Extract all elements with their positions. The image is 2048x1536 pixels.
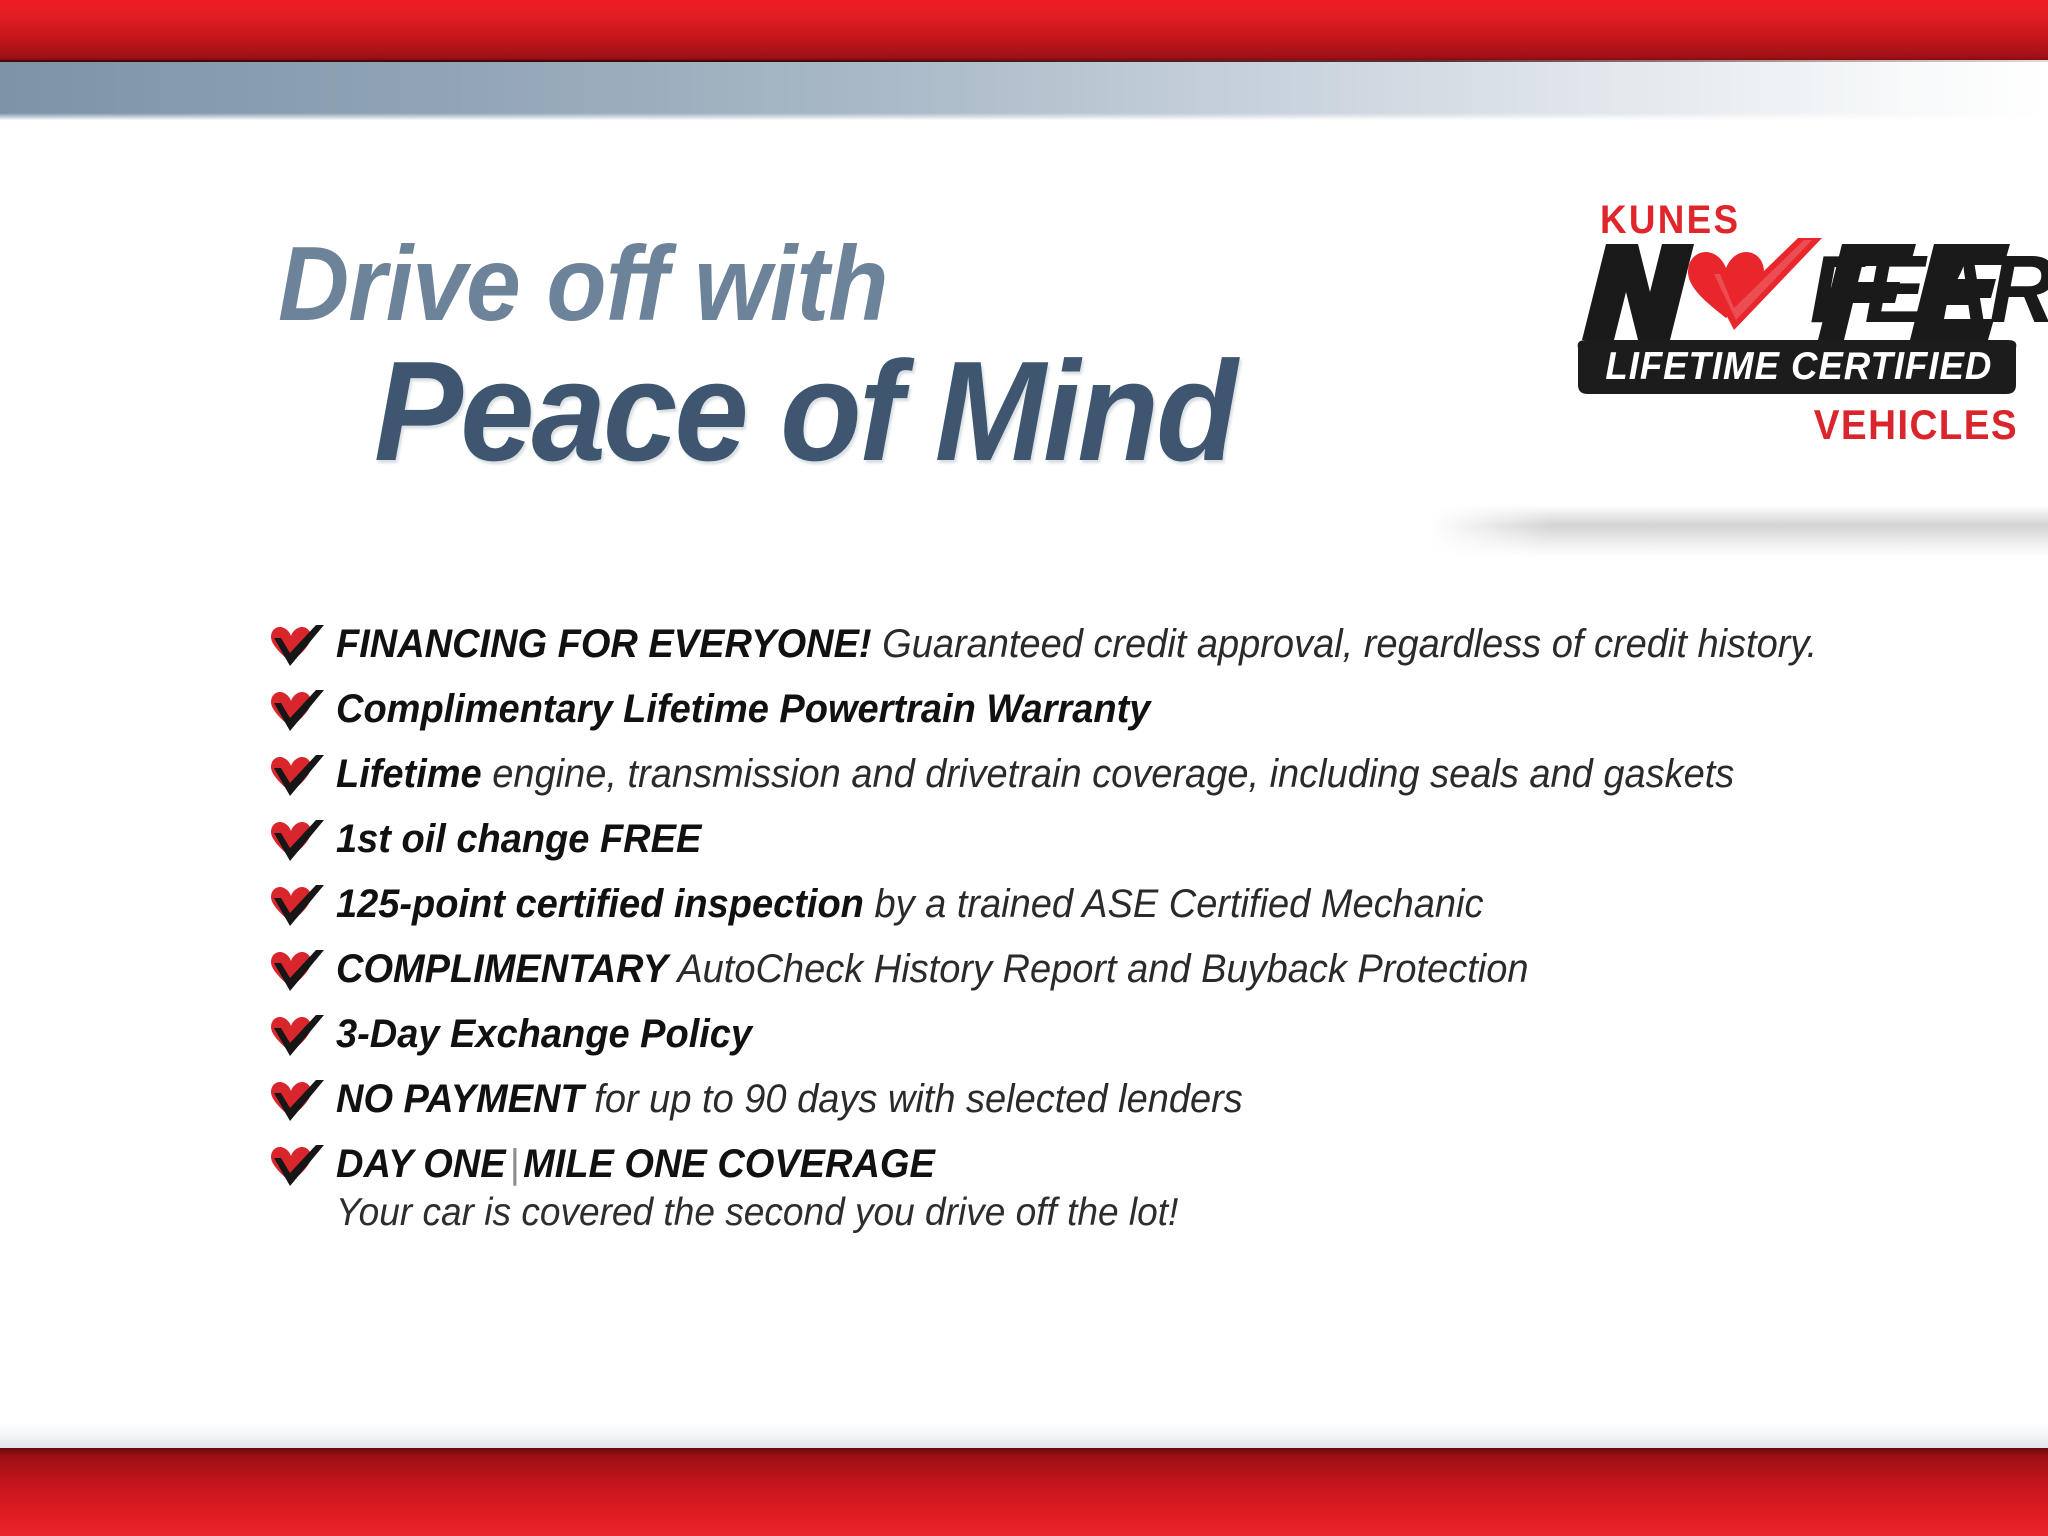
logo-certified-banner: LIFETIME CERTIFIED <box>1570 338 2022 396</box>
list-item: 3-Day Exchange Policy <box>268 1010 1968 1074</box>
list-item: Complimentary Lifetime Powertrain Warran… <box>268 685 1968 749</box>
list-item-text: 1st oil change FREE <box>336 815 1886 863</box>
list-item: 1st oil change FREE <box>268 815 1968 879</box>
list-item-text: FINANCING FOR EVERYONE! Guaranteed credi… <box>336 620 1886 668</box>
list-item-text: Lifetime engine, transmission and drivet… <box>336 750 1886 798</box>
list-item: Lifetime engine, transmission and drivet… <box>268 750 1968 814</box>
list-item-strong: 1st oil change FREE <box>336 817 701 861</box>
list-item-text: NO PAYMENT for up to 90 days with select… <box>336 1075 1886 1123</box>
logo-heart-check-icon <box>1688 238 1822 330</box>
list-item-separator: | <box>506 1142 523 1186</box>
logo-banner-text: LIFETIME CERTIFIED <box>1584 338 2009 396</box>
logo-panel-shadow <box>1430 505 2048 557</box>
list-item-regular: AutoCheck History Report and Buyback Pro… <box>677 947 1528 991</box>
list-item-strong: 125-point certified inspection <box>336 882 864 926</box>
benefits-list: FINANCING FOR EVERYONE! Guaranteed credi… <box>268 620 1968 1237</box>
list-item-text: 125-point certified inspection by a trai… <box>336 880 1886 928</box>
promotional-flyer: Drive off with Peace of Mind KUNES <box>0 0 2048 1536</box>
list-item-text: COMPLIMENTARY AutoCheck History Report a… <box>336 945 1886 993</box>
headline-line-1: Drive off with <box>278 232 1357 336</box>
top-slate-band <box>0 62 2048 120</box>
list-item: COMPLIMENTARY AutoCheck History Report a… <box>268 945 1968 1009</box>
list-item: DAY ONE|MILE ONE COVERAGE Your car is co… <box>268 1140 1968 1236</box>
list-item-strong-2: MILE ONE COVERAGE <box>523 1142 935 1186</box>
list-item-text: 3-Day Exchange Policy <box>336 1010 1886 1058</box>
heart-check-icon <box>268 949 326 993</box>
logo-letter-n <box>1582 244 1694 340</box>
list-item-strong: NO PAYMENT <box>336 1077 584 1121</box>
kunes-no-fear-logo: KUNES <box>1560 200 2030 500</box>
list-item: NO PAYMENT for up to 90 days with select… <box>268 1075 1968 1139</box>
bottom-red-band <box>0 1448 2048 1536</box>
logo-fear-text: FEAR <box>1810 236 2030 344</box>
list-item-regular: engine, transmission and drivetrain cove… <box>492 752 1734 796</box>
list-item-text: DAY ONE|MILE ONE COVERAGE <box>336 1140 1886 1188</box>
list-item-strong: Lifetime <box>336 752 482 796</box>
heart-check-icon <box>268 1144 326 1188</box>
bottom-fade-band <box>0 1422 2048 1448</box>
list-item: 125-point certified inspection by a trai… <box>268 880 1968 944</box>
headline-line-2: Peace of Mind <box>374 342 1374 482</box>
heart-check-icon <box>268 624 326 668</box>
list-item-text: Complimentary Lifetime Powertrain Warran… <box>336 685 1886 733</box>
heart-check-icon <box>268 1014 326 1058</box>
top-red-band <box>0 0 2048 62</box>
list-item-strong: FINANCING FOR EVERYONE! <box>336 622 872 666</box>
list-item-strong: COMPLIMENTARY <box>336 947 668 991</box>
heart-check-icon <box>268 884 326 928</box>
heart-check-icon <box>268 689 326 733</box>
list-item-regular: by a trained ASE Certified Mechanic <box>874 882 1483 926</box>
list-item-regular: Guaranteed credit approval, regardless o… <box>882 622 1817 666</box>
list-item-subtext: Your car is covered the second you drive… <box>336 1190 1886 1236</box>
heart-check-icon <box>268 1079 326 1123</box>
heart-check-icon <box>268 754 326 798</box>
list-item-strong: Complimentary Lifetime Powertrain Warran… <box>336 687 1150 731</box>
list-item: FINANCING FOR EVERYONE! Guaranteed credi… <box>268 620 1968 684</box>
list-item-strong: DAY ONE <box>336 1142 506 1186</box>
list-item-strong: 3-Day Exchange Policy <box>336 1012 752 1056</box>
logo-suffix-vehicles: VEHICLES <box>1814 404 2018 446</box>
list-item-regular: for up to 90 days with selected lenders <box>594 1077 1242 1121</box>
heart-check-icon <box>268 819 326 863</box>
headline-block: Drive off with Peace of Mind <box>278 232 1438 482</box>
